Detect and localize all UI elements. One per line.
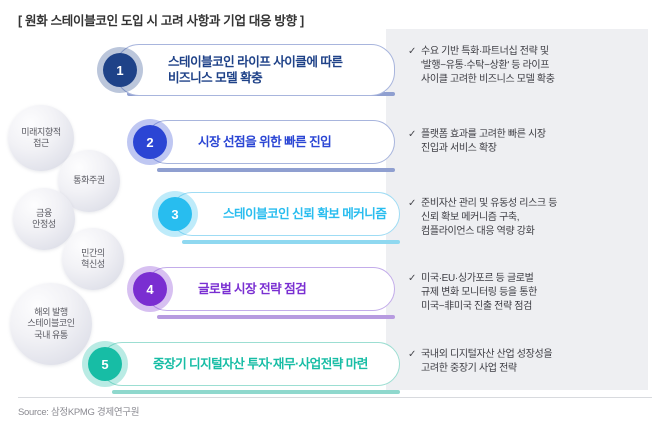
strategy-number-badge-1: 1 xyxy=(103,53,137,87)
check-icon: ✓ xyxy=(408,348,421,362)
detail-bullet-4: ✓ 미국·EU·싱가포르 등 글로벌 규제 변화 모니터링 등을 통한 미국−非… xyxy=(408,272,644,315)
strategy-number: 4 xyxy=(146,282,153,297)
source-label: Source: 삼정KPMG 경제연구원 xyxy=(18,404,139,418)
check-icon: ✓ xyxy=(408,272,421,286)
row-underbar xyxy=(157,168,395,172)
check-icon: ✓ xyxy=(408,45,421,59)
detail-bullet-5: ✓ 국내외 디지털자산 산업 성장성을 고려한 중장기 사업 전략 xyxy=(408,348,644,376)
consideration-bubble-label: 민간의 혁신성 xyxy=(81,248,105,271)
row-underbar xyxy=(182,240,400,244)
consideration-bubble-label: 통화주권 xyxy=(73,175,105,186)
consideration-bubble-label: 해외 발행 스테이블코인 국내 유통 xyxy=(27,307,74,341)
detail-bullet-text: 준비자산 관리 및 유동성 리스크 등 신뢰 확보 메커니즘 구축, 컴플라이언… xyxy=(421,197,557,240)
consideration-bubble-private-innovation: 민간의 혁신성 xyxy=(62,228,124,290)
check-icon: ✓ xyxy=(408,128,421,142)
check-icon: ✓ xyxy=(408,197,421,211)
strategy-number-badge-5: 5 xyxy=(88,347,122,381)
strategy-pill-3[interactable]: 스테이블코인 신뢰 확보 메커니즘 xyxy=(170,192,400,236)
detail-bullet-2: ✓ 플랫폼 효과를 고려한 빠른 시장 진입과 서비스 확장 xyxy=(408,128,644,156)
strategy-pill-5[interactable]: 중장기 디지털자산 투자·재무·사업전략 마련 xyxy=(100,342,400,386)
strategy-number-badge-4: 4 xyxy=(133,272,167,306)
strategy-pill-label: 스테이블코인 신뢰 확보 메커니즘 xyxy=(223,206,386,222)
page-title: [ 원화 스테이블코인 도입 시 고려 사항과 기업 대응 방향 ] xyxy=(18,10,304,29)
row-underbar xyxy=(112,390,400,394)
detail-bullet-text: 수요 기반 특화·파트너십 전략 및 '발행−유통·수탁−상환' 등 라이프 사… xyxy=(421,45,555,88)
detail-bullet-1: ✓ 수요 기반 특화·파트너십 전략 및 '발행−유통·수탁−상환' 등 라이프… xyxy=(408,45,644,88)
strategy-number: 3 xyxy=(171,207,178,222)
strategy-pill-label: 스테이블코인 라이프 사이클에 따른 비즈니스 모델 확충 xyxy=(168,54,342,86)
row-underbar xyxy=(157,315,395,319)
detail-bullet-text: 국내외 디지털자산 산업 성장성을 고려한 중장기 사업 전략 xyxy=(421,348,552,376)
strategy-number-badge-2: 2 xyxy=(133,125,167,159)
strategy-number: 2 xyxy=(146,135,153,150)
strategy-number-badge-3: 3 xyxy=(158,197,192,231)
strategy-number: 5 xyxy=(101,357,108,372)
detail-bullet-text: 미국·EU·싱가포르 등 글로벌 규제 변화 모니터링 등을 통한 미국−非미국… xyxy=(421,272,537,315)
strategy-pill-1[interactable]: 스테이블코인 라이프 사이클에 따른 비즈니스 모델 확충 xyxy=(115,44,395,96)
consideration-bubble-label: 금융 안정성 xyxy=(32,208,56,231)
detail-bullet-text: 플랫폼 효과를 고려한 빠른 시장 진입과 서비스 확장 xyxy=(421,128,546,156)
strategy-pill-label: 글로벌 시장 전략 점검 xyxy=(198,281,306,297)
strategy-pill-4[interactable]: 글로벌 시장 전략 점검 xyxy=(145,267,395,311)
consideration-bubble-foreign-stablecoin-circulation: 해외 발행 스테이블코인 국내 유통 xyxy=(10,283,92,365)
strategy-number: 1 xyxy=(116,63,123,78)
strategy-pill-label: 중장기 디지털자산 투자·재무·사업전략 마련 xyxy=(153,356,368,372)
footer-divider xyxy=(18,397,652,398)
consideration-bubble-financial-stability: 금융 안정성 xyxy=(13,188,75,250)
detail-bullet-3: ✓ 준비자산 관리 및 유동성 리스크 등 신뢰 확보 메커니즘 구축, 컴플라… xyxy=(408,197,644,240)
strategy-pill-2[interactable]: 시장 선점을 위한 빠른 진입 xyxy=(145,120,395,164)
consideration-bubble-label: 미래지향적 접근 xyxy=(21,127,60,150)
strategy-pill-label: 시장 선점을 위한 빠른 진입 xyxy=(198,134,331,150)
